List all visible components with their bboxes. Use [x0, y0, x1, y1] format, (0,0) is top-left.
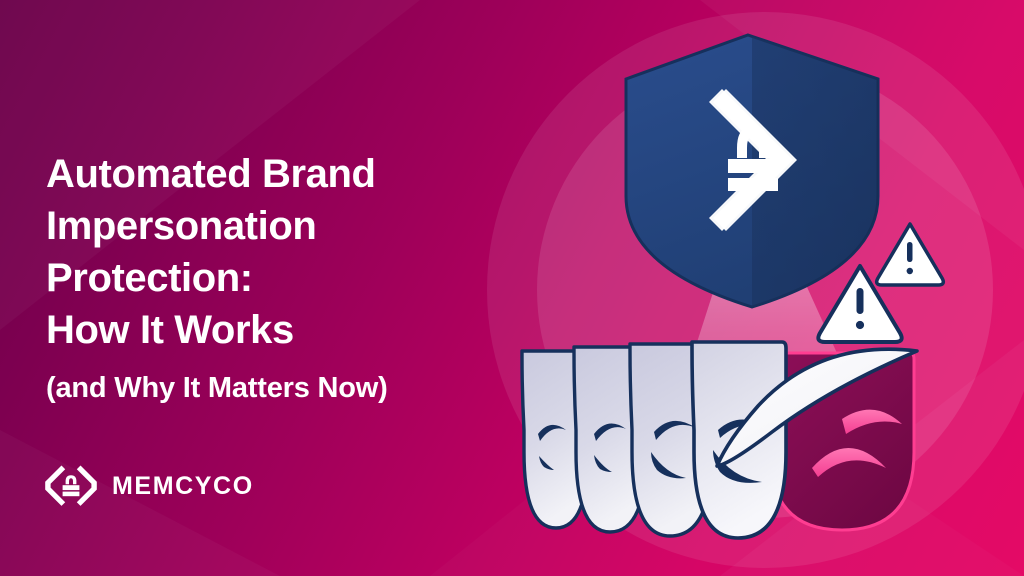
headline-line-2: Impersonation — [46, 200, 516, 252]
headline-line-3: Protection: — [46, 252, 516, 304]
brand-logo: MEMCYCO — [44, 459, 254, 513]
headline-line-4: How It Works — [46, 304, 516, 356]
brand-wordmark: MEMCYCO — [112, 474, 254, 499]
subheadline: (and Why It Matters Now) — [46, 368, 516, 408]
headline-block: Automated Brand Impersonation Protection… — [46, 148, 516, 408]
angle-brackets-lock-icon — [44, 459, 98, 513]
hero-illustration — [470, 0, 1024, 576]
headline-line-1: Automated Brand — [46, 148, 516, 200]
promo-banner: Automated Brand Impersonation Protection… — [0, 0, 1024, 576]
